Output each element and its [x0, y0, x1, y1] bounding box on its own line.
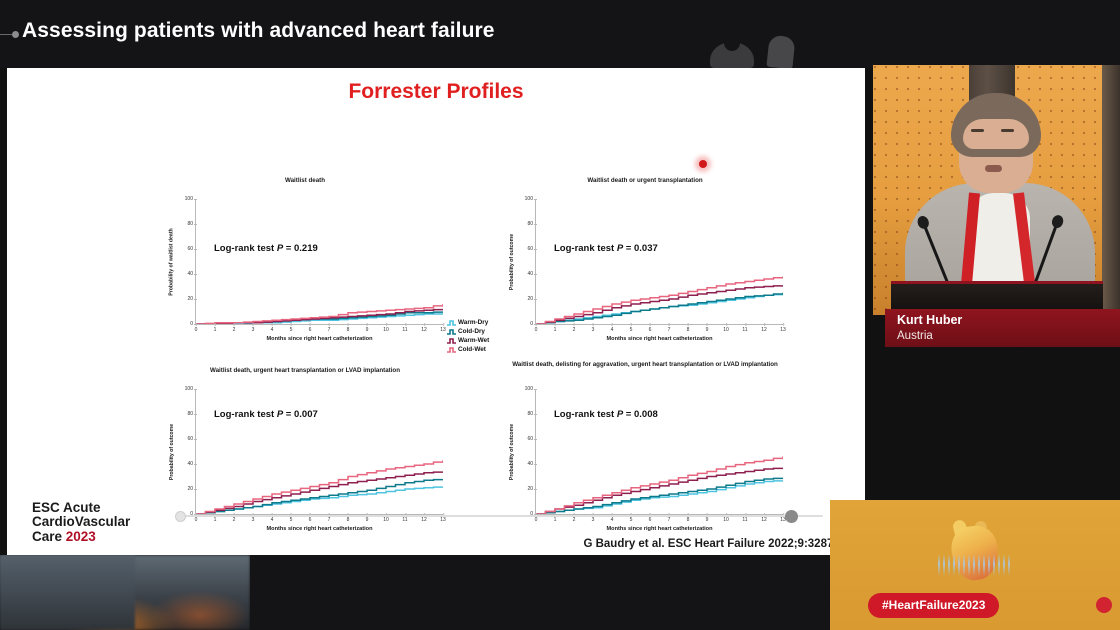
- x-tick: 8: [347, 327, 350, 333]
- esc-logo: ESC Acute CardioVascular Care 2023: [32, 501, 130, 544]
- x-tick: 1: [214, 327, 217, 333]
- legend-swatch-cold-wet: [447, 346, 456, 354]
- y-tick: 80: [187, 221, 193, 227]
- plot-area: Probability of waitlist death 100 80 60 …: [195, 199, 443, 325]
- x-tick: 0: [195, 327, 198, 333]
- survival-curves: [536, 199, 783, 324]
- y-tick: 60: [187, 436, 193, 442]
- x-tick: 10: [723, 327, 729, 333]
- legend-swatch-warm-dry: [447, 319, 456, 327]
- y-tick: 60: [187, 246, 193, 252]
- scrubber-handle-left[interactable]: [175, 511, 186, 522]
- y-tick: 20: [187, 486, 193, 492]
- broadcast-player: Assessing patients with advanced heart f…: [0, 0, 1120, 630]
- y-tick: 20: [187, 296, 193, 302]
- esc-logo-line3: Care 2023: [32, 530, 130, 544]
- chart-waitlist-death: Waitlist death Probability of waitlist d…: [155, 193, 455, 363]
- y-tick: 100: [185, 386, 193, 392]
- x-tick: 13: [780, 327, 786, 333]
- x-tick: 10: [383, 327, 389, 333]
- x-axis-label: Months since right heart catheterization: [196, 336, 443, 342]
- x-tick: 11: [742, 327, 747, 333]
- x-tick: 5: [630, 327, 633, 333]
- x-tick: 3: [252, 327, 255, 333]
- legend-swatch-cold-dry: [447, 328, 456, 336]
- chart-title: Waitlist death: [155, 177, 455, 185]
- pin-dot-icon: [12, 31, 19, 38]
- chart-title: Waitlist death or urgent transplantation: [495, 177, 795, 185]
- x-tick: 8: [687, 327, 690, 333]
- y-axis-label: Probability of outcome: [169, 424, 175, 480]
- x-tick: 2: [233, 327, 236, 333]
- chart-title: Waitlist death, urgent heart transplanta…: [155, 367, 455, 375]
- page-title: Assessing patients with advanced heart f…: [22, 19, 495, 43]
- y-tick: 20: [527, 296, 533, 302]
- y-tick: 40: [527, 461, 533, 467]
- y-tick: 20: [527, 486, 533, 492]
- y-tick: 60: [527, 436, 533, 442]
- x-tick: 2: [573, 327, 576, 333]
- plot-area: Probability of outcome 100 80 60 40 20 0…: [535, 199, 783, 325]
- legend-label: Warm-Wet: [458, 337, 489, 344]
- x-tick: 9: [366, 327, 369, 333]
- x-tick: 13: [440, 327, 446, 333]
- heart-logo-icon: [938, 520, 1012, 594]
- chart-waitlist-death-or-urgent-transplantation: Waitlist death or urgent transplantation…: [495, 193, 795, 363]
- legend-item: Warm-Dry: [447, 318, 489, 327]
- speaker-mouth: [985, 165, 1002, 172]
- x-axis-label: Months since right heart catheterization: [536, 336, 783, 342]
- x-tick: 12: [761, 327, 767, 333]
- y-axis-label: Probability of waitlist death: [169, 228, 175, 295]
- y-tick: 100: [185, 196, 193, 202]
- scrubber-handle-right[interactable]: [785, 510, 798, 523]
- curve-warm-wet: [536, 285, 783, 324]
- y-axis-label: Probability of outcome: [509, 424, 515, 480]
- y-tick: 0: [530, 321, 533, 327]
- y-tick: 100: [525, 196, 533, 202]
- y-tick: 80: [527, 221, 533, 227]
- branding-badge: #HeartFailure2023: [830, 500, 1120, 630]
- hashtag-label: #HeartFailure2023: [868, 593, 999, 618]
- badge-dot-icon: [1096, 597, 1112, 613]
- speaker-name: Kurt Huber: [897, 313, 1120, 329]
- slide-scrubber[interactable]: [175, 510, 823, 522]
- backdrop-pillar-right: [1102, 65, 1120, 315]
- audience-silhouette-icon: [660, 30, 860, 68]
- y-tick: 60: [527, 246, 533, 252]
- x-tick: 4: [271, 327, 274, 333]
- y-tick: 80: [527, 411, 533, 417]
- legend-label: Warm-Dry: [458, 319, 488, 326]
- slide-header: Forrester Profiles: [7, 68, 865, 118]
- chart-legend: Warm-Dry Cold-Dry Warm-Wet Cold-Wet: [447, 318, 489, 354]
- x-tick: 11: [402, 327, 407, 333]
- x-tick: 9: [706, 327, 709, 333]
- slide-title: Forrester Profiles: [7, 80, 865, 104]
- legend-item: Warm-Wet: [447, 336, 489, 345]
- x-tick: 7: [668, 327, 671, 333]
- x-tick: 3: [592, 327, 595, 333]
- x-tick: 4: [611, 327, 614, 333]
- chart-title: Waitlist death, delisting for aggravatio…: [495, 361, 795, 369]
- speaker-eye-right: [1001, 129, 1014, 132]
- x-tick: 5: [290, 327, 293, 333]
- x-tick: 6: [309, 327, 312, 333]
- y-tick: 100: [525, 386, 533, 392]
- speaker-country: Austria: [897, 329, 1120, 343]
- legend-swatch-warm-wet: [447, 337, 456, 345]
- y-tick: 40: [187, 271, 193, 277]
- slide-footer: ESC Acute CardioVascular Care 2023 G Bau…: [7, 496, 865, 558]
- scrubber-track[interactable]: [175, 515, 823, 517]
- x-tick: 12: [421, 327, 427, 333]
- esc-logo-line1: ESC Acute: [32, 501, 130, 515]
- citation: G Baudry et al. ESC Heart Failure 2022;9…: [583, 538, 850, 550]
- y-tick: 40: [527, 271, 533, 277]
- y-tick: 40: [187, 461, 193, 467]
- y-tick: 0: [190, 321, 193, 327]
- speaker-eye-left: [971, 129, 984, 132]
- legend-item: Cold-Dry: [447, 327, 489, 336]
- slide-canvas: Forrester Profiles Waitlist death Probab…: [7, 68, 865, 558]
- x-tick: 6: [649, 327, 652, 333]
- survival-curves: [196, 199, 443, 324]
- top-bar: Assessing patients with advanced heart f…: [0, 0, 1120, 68]
- esc-logo-line2: CardioVascular: [32, 515, 130, 529]
- x-tick: 1: [554, 327, 557, 333]
- background-artwork-dark: [0, 555, 135, 630]
- y-tick: 80: [187, 411, 193, 417]
- x-tick: 0: [535, 327, 538, 333]
- legend-label: Cold-Wet: [458, 346, 486, 353]
- charts-grid: Waitlist death Probability of waitlist d…: [7, 118, 865, 518]
- legend-label: Cold-Dry: [458, 328, 485, 335]
- legend-item: Cold-Wet: [447, 345, 489, 354]
- background-midband: [250, 555, 830, 630]
- speaker-banner: Kurt Huber Austria: [885, 309, 1120, 347]
- speaker-video[interactable]: [873, 65, 1120, 315]
- y-axis-label: Probability of outcome: [509, 234, 515, 290]
- x-tick: 7: [328, 327, 331, 333]
